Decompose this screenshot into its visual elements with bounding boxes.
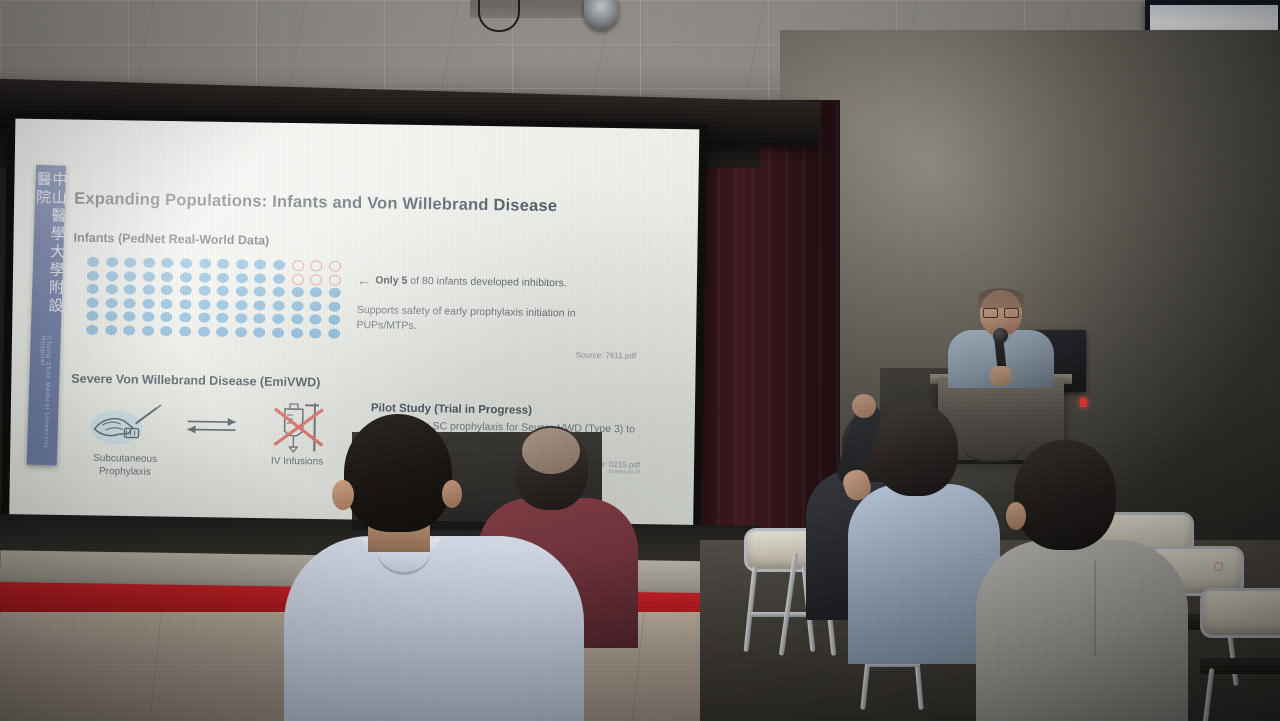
exchange-arrows-box xyxy=(180,400,243,453)
dot-no-inhibitor xyxy=(143,271,155,281)
dot-no-inhibitor xyxy=(179,312,191,322)
dot-no-inhibitor xyxy=(235,327,247,337)
dot-no-inhibitor xyxy=(180,285,192,295)
infants-pictogram-block: ← Only 5 of 80 infants developed inhibit… xyxy=(72,255,673,362)
attendee-torso xyxy=(976,540,1188,721)
dot-no-inhibitor xyxy=(123,311,135,321)
presenter-hair xyxy=(978,288,1024,308)
microphone-head xyxy=(993,328,1008,343)
dot-no-inhibitor xyxy=(235,286,247,296)
chair-back xyxy=(1200,588,1280,638)
sweater-seam xyxy=(1094,560,1096,656)
syringe-icon-box xyxy=(70,398,181,452)
dot-no-inhibitor xyxy=(124,298,136,308)
attendee-ear xyxy=(1006,502,1026,530)
dot-no-inhibitor xyxy=(199,259,211,269)
dot-inhibitor xyxy=(291,274,303,285)
attendee-bald-crown xyxy=(522,428,580,474)
dot-inhibitor xyxy=(329,274,341,285)
left-arrow-icon: ← xyxy=(357,273,371,287)
dot-no-inhibitor xyxy=(236,259,248,269)
dot-no-inhibitor xyxy=(273,273,285,283)
dot-no-inhibitor xyxy=(216,313,228,323)
callout-rest-text: of 80 infants developed inhibitors. xyxy=(407,275,567,290)
dot-no-inhibitor xyxy=(254,300,266,310)
chair-rail xyxy=(750,612,812,617)
iv-infusions-caption: IV Infusions xyxy=(242,455,352,470)
dot-no-inhibitor xyxy=(161,312,173,322)
attendee-head xyxy=(874,404,958,496)
dot-no-inhibitor xyxy=(310,287,322,297)
presenter-hand xyxy=(990,366,1012,386)
callout-bold-count: Only 5 xyxy=(375,274,407,287)
dot-no-inhibitor xyxy=(86,324,98,334)
dot-no-inhibitor xyxy=(236,273,248,283)
attendee-head xyxy=(1014,440,1116,550)
banner-chinese-text: 中山醫學大學附設醫院 xyxy=(30,171,66,331)
presenter-glasses xyxy=(983,308,1019,316)
iv-bag-crossed-out-icon xyxy=(268,401,327,454)
bidirectional-arrows-icon xyxy=(183,413,239,440)
dot-no-inhibitor xyxy=(291,314,303,324)
iv-infusions-column: IV Infusions xyxy=(242,401,353,470)
inhibitor-callout-line: ← Only 5 of 80 infants developed inhibit… xyxy=(357,273,637,291)
dot-no-inhibitor xyxy=(217,299,229,309)
infants-section-heading: Infants (PedNet Real-World Data) xyxy=(73,231,673,254)
dot-no-inhibitor xyxy=(216,326,228,336)
dot-no-inhibitor xyxy=(86,311,98,321)
dot-no-inhibitor xyxy=(328,315,340,325)
banner-english-text: Chung Shan Medical University Hospital xyxy=(36,336,52,465)
attendee-torso xyxy=(284,536,584,721)
dot-no-inhibitor xyxy=(254,286,266,296)
hand-with-syringe-icon xyxy=(88,401,163,448)
dot-no-inhibitor xyxy=(328,328,340,338)
dot-no-inhibitor xyxy=(106,257,118,267)
dot-no-inhibitor xyxy=(86,297,98,307)
dot-no-inhibitor xyxy=(105,298,117,308)
dot-inhibitor xyxy=(329,261,341,272)
dot-inhibitor xyxy=(292,260,304,271)
dot-no-inhibitor xyxy=(124,284,136,294)
dot-no-inhibitor xyxy=(272,327,284,337)
dot-no-inhibitor xyxy=(272,314,284,324)
dot-no-inhibitor xyxy=(160,325,172,335)
prophylaxis-support-note: Supports safety of early prophylaxis ini… xyxy=(356,303,636,338)
dot-no-inhibitor xyxy=(273,260,285,270)
dot-no-inhibitor xyxy=(309,328,321,338)
dot-no-inhibitor xyxy=(291,287,303,297)
dot-no-inhibitor xyxy=(198,299,210,309)
dot-no-inhibitor xyxy=(142,285,154,295)
dot-no-inhibitor xyxy=(198,313,210,323)
dot-no-inhibitor xyxy=(254,259,266,269)
infants-source-label: Source: 7611.pdf xyxy=(356,347,636,360)
dot-no-inhibitor xyxy=(161,285,173,295)
dot-no-inhibitor xyxy=(106,271,118,281)
subcutaneous-caption: Subcutaneous Prophylaxis xyxy=(70,452,180,480)
dot-no-inhibitor xyxy=(328,301,340,311)
infant-dot-grid xyxy=(86,257,348,342)
dot-no-inhibitor xyxy=(291,328,303,338)
chair-logo-dot xyxy=(1214,562,1223,571)
attendee-hand xyxy=(852,394,876,418)
dot-no-inhibitor xyxy=(235,313,247,323)
dot-no-inhibitor xyxy=(179,299,191,309)
dot-no-inhibitor xyxy=(198,286,210,296)
dot-no-inhibitor xyxy=(124,271,136,281)
dot-no-inhibitor xyxy=(161,271,173,281)
dot-no-inhibitor xyxy=(273,287,285,297)
dot-no-inhibitor xyxy=(142,298,154,308)
dot-no-inhibitor xyxy=(217,259,229,269)
dot-no-inhibitor xyxy=(105,284,117,294)
subcutaneous-column: Subcutaneous Prophylaxis xyxy=(70,398,181,480)
dot-no-inhibitor xyxy=(180,258,192,268)
dot-no-inhibitor xyxy=(142,325,154,335)
iv-icon-box xyxy=(242,401,353,455)
conference-room-photo: 中山醫學大學附設醫院 Chung Shan Medical University… xyxy=(0,0,1280,721)
dot-no-inhibitor xyxy=(143,258,155,268)
dot-inhibitor xyxy=(310,260,322,271)
dot-no-inhibitor xyxy=(105,325,117,335)
dot-no-inhibitor xyxy=(105,311,117,321)
dot-no-inhibitor xyxy=(142,312,154,322)
dot-inhibitor xyxy=(310,274,322,285)
attendee-head xyxy=(344,414,452,532)
dot-no-inhibitor xyxy=(180,272,192,282)
dot-no-inhibitor xyxy=(123,325,135,335)
infants-callout: ← Only 5 of 80 infants developed inhibit… xyxy=(356,273,637,361)
dot-no-inhibitor xyxy=(291,301,303,311)
dot-no-inhibitor xyxy=(217,286,229,296)
dot-no-inhibitor xyxy=(328,288,340,298)
dot-no-inhibitor xyxy=(161,298,173,308)
dot-no-inhibitor xyxy=(161,258,173,268)
hospital-banner: 中山醫學大學附設醫院 Chung Shan Medical University… xyxy=(27,165,66,466)
dot-no-inhibitor xyxy=(87,284,99,294)
dot-no-inhibitor xyxy=(254,313,266,323)
dot-no-inhibitor xyxy=(87,257,99,267)
dot-no-inhibitor xyxy=(124,257,136,267)
dot-no-inhibitor xyxy=(309,314,321,324)
attendee-ear-left xyxy=(332,480,354,510)
slide-title: Expanding Populations: Infants and Von W… xyxy=(74,190,674,218)
dot-no-inhibitor xyxy=(198,326,210,336)
vwd-section-heading: Severe Von Willebrand Disease (EmiVWD) xyxy=(71,372,671,395)
dot-no-inhibitor xyxy=(235,300,247,310)
dot-no-inhibitor xyxy=(310,301,322,311)
dot-no-inhibitor xyxy=(253,327,265,337)
dot-no-inhibitor xyxy=(179,326,191,336)
attendee-ear-right xyxy=(442,480,462,508)
dot-no-inhibitor xyxy=(272,300,284,310)
dot-no-inhibitor xyxy=(87,270,99,280)
dot-no-inhibitor xyxy=(217,272,229,282)
red-power-led xyxy=(1080,398,1087,407)
dot-no-inhibitor xyxy=(198,272,210,282)
dot-no-inhibitor xyxy=(254,273,266,283)
